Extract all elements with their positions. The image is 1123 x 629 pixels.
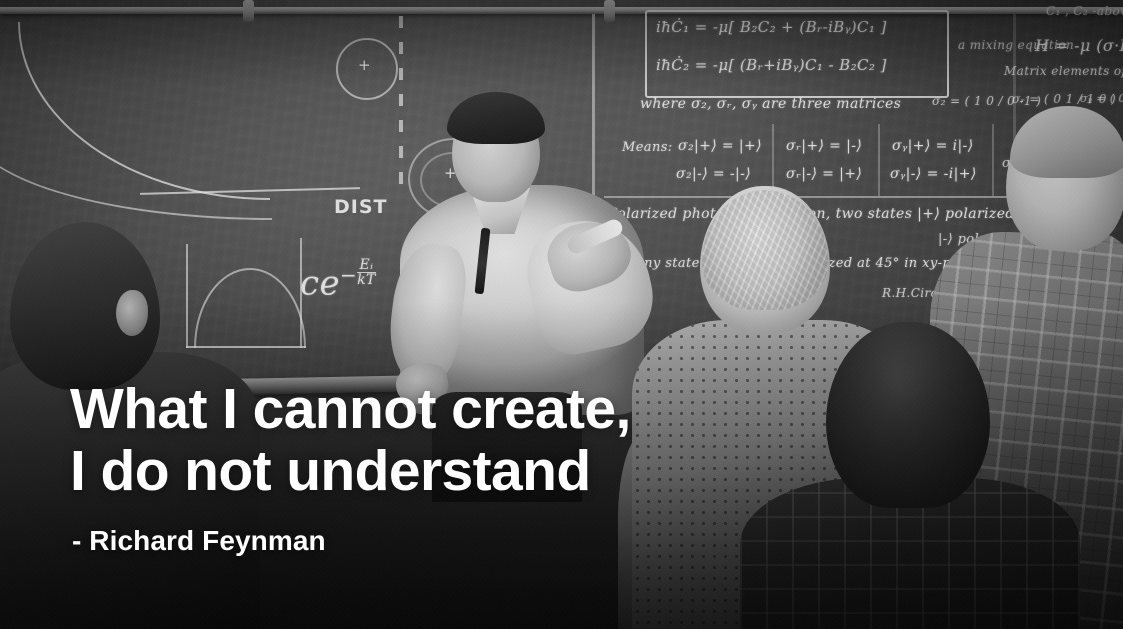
quote-attribution: - Richard Feynman (72, 524, 326, 558)
dark-person-head (826, 322, 990, 508)
chalk-equation-box (645, 10, 949, 98)
chalk-crosshair-icon: + (358, 58, 371, 73)
rail-clip-icon (604, 0, 615, 22)
chalk-table-rule (604, 196, 1024, 198)
chalk-plot-axis-y (186, 244, 188, 348)
chalk-table-divider (772, 124, 774, 196)
chalk-table-divider (878, 124, 880, 196)
chalk-dist-label: DIST (334, 196, 388, 218)
chalk-table-divider (992, 124, 994, 196)
quote-line-1: What I cannot create, (70, 378, 631, 440)
quote-block: What I cannot create, I do not understan… (70, 378, 631, 502)
board-panel-divider (399, 16, 403, 184)
blackboard-top-rail (0, 7, 1123, 14)
rail-clip-icon (243, 0, 254, 22)
quote-line-2: I do not understand (70, 440, 631, 502)
quote-image: + + ⊕ DIST ce−EᵢkT iħĊ₁ = -μ[ B₂C₂ + (Bᵣ… (0, 0, 1123, 629)
board-panel-edge (1013, 14, 1016, 144)
foreground-man-ear (116, 290, 148, 336)
